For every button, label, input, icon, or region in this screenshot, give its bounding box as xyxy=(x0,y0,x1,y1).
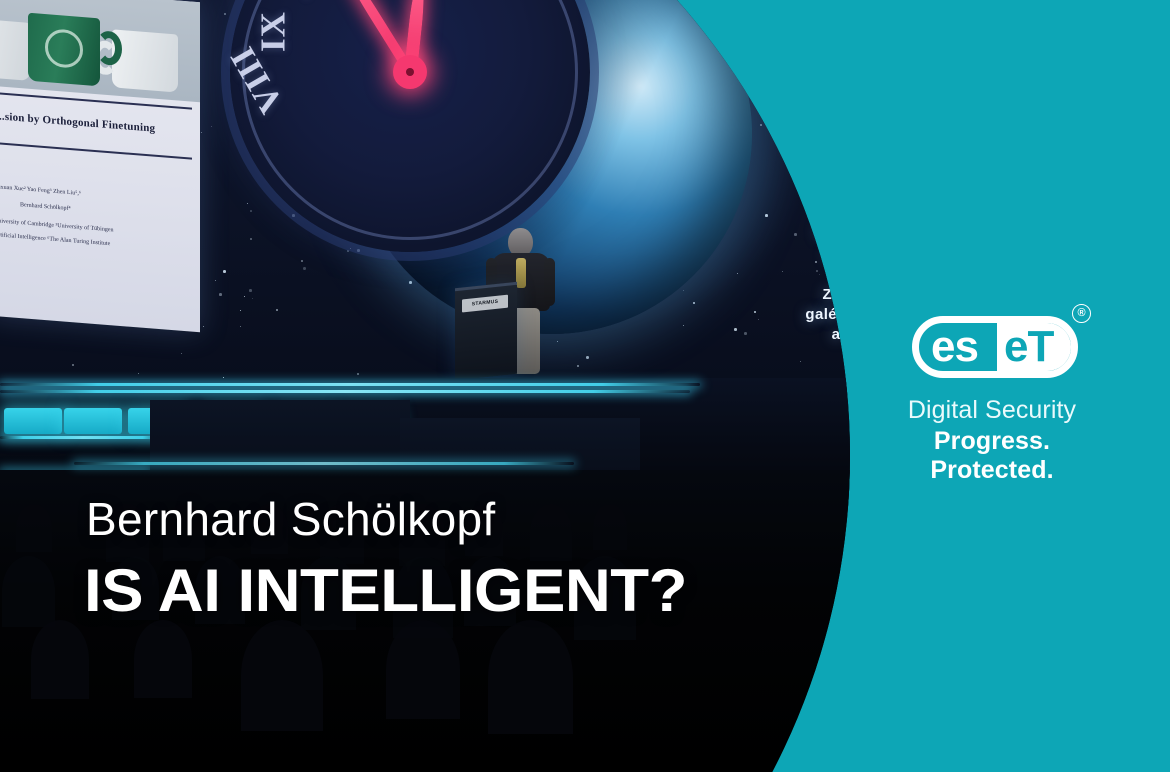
star-dot xyxy=(693,302,695,304)
star-dot xyxy=(215,280,216,281)
star-dot xyxy=(223,270,226,273)
stage-photograph: XIIXIXIXVIII xyxy=(0,0,850,772)
star-dot xyxy=(303,267,306,270)
mug-left xyxy=(0,18,30,81)
star-dot xyxy=(754,311,756,313)
podium: STARMUS EARTH xyxy=(455,282,517,381)
projection-caption-1-line-1: Takže xyxy=(776,226,850,245)
audience-head-silhouette xyxy=(593,504,627,550)
star-dot xyxy=(181,353,182,354)
mug-logo-icon xyxy=(45,28,83,69)
star-dot xyxy=(744,332,747,335)
star-dot xyxy=(250,210,252,212)
star-dot xyxy=(797,45,798,46)
slide-divider-bottom xyxy=(0,142,192,159)
speaker-name: Bernhard Schölkopf xyxy=(86,492,495,546)
star-dot xyxy=(203,326,204,327)
star-dot xyxy=(804,51,805,52)
star-dot xyxy=(800,361,801,362)
star-dot xyxy=(357,249,360,252)
star-dot xyxy=(247,203,248,204)
star-dot xyxy=(357,373,359,375)
star-dot xyxy=(737,273,738,274)
photo-circle-clip: XIIXIXIXVIII xyxy=(0,0,850,772)
star-dot xyxy=(138,373,139,374)
star-dot xyxy=(819,274,820,275)
projection-caption-1-line-2: nie xyxy=(776,246,850,265)
led-strip-front xyxy=(74,462,574,465)
star-dot xyxy=(816,154,818,156)
star-dot xyxy=(240,326,241,327)
slide-title-text: ...sion by Orthogonal Finetuning xyxy=(0,110,196,138)
star-dot xyxy=(72,364,74,366)
star-dot xyxy=(240,310,241,311)
led-strip-3 xyxy=(0,436,166,439)
star-dot xyxy=(782,271,783,272)
star-dot xyxy=(250,238,252,240)
star-dot xyxy=(219,293,222,296)
eset-logo-icon: es eT xyxy=(912,316,1078,378)
eset-logo-lockup: es eT ® Digital Security Progress. Prote… xyxy=(876,300,1108,465)
mug-right xyxy=(112,29,178,92)
star-dot xyxy=(201,132,202,133)
speaker-lanyard xyxy=(516,258,526,288)
registered-trademark-icon: ® xyxy=(1072,304,1091,323)
podium-nameplate: STARMUS EARTH xyxy=(462,295,508,313)
star-dot xyxy=(796,101,797,102)
star-dot xyxy=(683,290,684,291)
star-dot xyxy=(244,296,245,297)
eset-wordmark-left: es xyxy=(931,326,978,368)
clock-center-cap xyxy=(393,55,427,89)
led-strip-2 xyxy=(0,390,690,393)
star-dot xyxy=(409,281,412,284)
talk-thumbnail: XIIXIXIXVIII xyxy=(0,0,1170,772)
star-dot xyxy=(758,319,759,320)
star-dot xyxy=(740,20,741,21)
audience-head-silhouette xyxy=(241,620,323,731)
star-dot xyxy=(211,126,212,127)
star-dot xyxy=(586,356,589,359)
projection-caption-2-line-2: galérie xyxy=(766,306,850,325)
star-dot xyxy=(832,89,835,92)
led-block-1 xyxy=(4,408,62,434)
star-dot xyxy=(683,325,684,326)
star-dot xyxy=(577,365,579,367)
projection-caption-2-line-1: Zač xyxy=(776,286,850,305)
star-dot xyxy=(350,248,351,249)
audience-head-silhouette xyxy=(16,504,52,552)
projection-caption-2-line-3: a xyxy=(776,326,850,345)
star-dot xyxy=(816,270,818,272)
audience-head-silhouette xyxy=(488,620,573,734)
star-dot xyxy=(276,309,278,311)
star-dot xyxy=(760,124,762,126)
star-dot xyxy=(252,298,253,299)
tagline-digital-security: Digital Security xyxy=(876,396,1108,425)
mug-center-green xyxy=(28,13,100,87)
star-dot xyxy=(846,82,847,83)
presentation-slide: ...sion by Orthogonal Finetuning Yuxuan … xyxy=(0,0,200,332)
star-dot xyxy=(765,214,768,217)
audience-head-silhouette xyxy=(2,556,55,627)
tagline-progress-protected: Progress. Protected. xyxy=(876,427,1108,485)
star-dot xyxy=(790,115,792,117)
star-dot xyxy=(301,260,303,262)
star-dot xyxy=(224,13,226,15)
star-dot xyxy=(832,132,835,135)
audience-head-silhouette xyxy=(31,620,89,699)
led-strip-1 xyxy=(0,383,700,386)
talk-title: IS AI INTELLIGENT? xyxy=(84,556,687,625)
star-dot xyxy=(792,9,793,10)
slide-mug-photo xyxy=(0,0,200,102)
star-dot xyxy=(347,250,349,252)
audience-head-silhouette xyxy=(386,620,460,719)
star-dot xyxy=(292,214,295,217)
audience-head-silhouette xyxy=(530,504,572,561)
eset-wordmark-right: eT xyxy=(1004,326,1053,368)
star-dot xyxy=(249,289,252,292)
led-block-2 xyxy=(64,408,122,434)
speaker-arm-right xyxy=(544,258,555,306)
venue-backdrop: XIIXIXIXVIII xyxy=(0,0,850,395)
star-dot xyxy=(734,328,737,331)
audience-head-silhouette xyxy=(134,620,192,698)
